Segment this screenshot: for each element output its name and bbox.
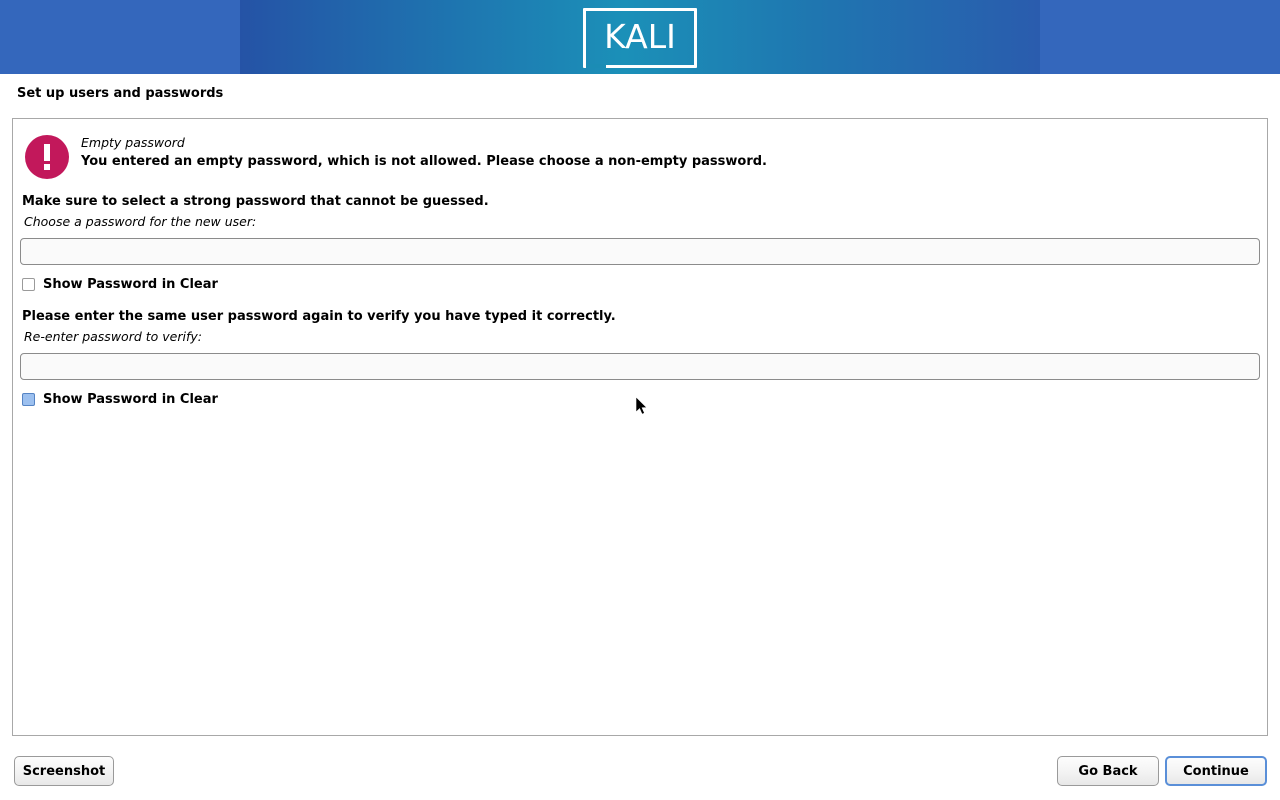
show-password-in-clear-checkbox-1[interactable] bbox=[22, 278, 35, 291]
installer-banner: KALI bbox=[0, 0, 1280, 74]
show-password-in-clear-checkbox-row-1[interactable]: Show Password in Clear bbox=[22, 277, 218, 292]
password-strength-hint: Make sure to select a strong password th… bbox=[22, 194, 489, 209]
password-input[interactable] bbox=[20, 238, 1260, 265]
show-password-in-clear-label-1: Show Password in Clear bbox=[43, 277, 218, 292]
error-exclamation-icon bbox=[25, 135, 69, 179]
continue-button[interactable]: Continue bbox=[1165, 756, 1267, 786]
verify-field-label: Re-enter password to verify: bbox=[24, 329, 202, 344]
go-back-button[interactable]: Go Back bbox=[1057, 756, 1159, 786]
alert-block: Empty password You entered an empty pass… bbox=[13, 127, 1267, 197]
verify-password-input[interactable] bbox=[20, 353, 1260, 380]
verify-password-hint: Please enter the same user password agai… bbox=[22, 309, 616, 324]
alert-title: Empty password bbox=[81, 135, 185, 150]
alert-message: You entered an empty password, which is … bbox=[81, 154, 767, 169]
error-icon-dot bbox=[44, 164, 50, 170]
password-field-label: Choose a password for the new user: bbox=[24, 214, 256, 229]
page-title: Set up users and passwords bbox=[17, 86, 223, 101]
show-password-in-clear-checkbox-2[interactable] bbox=[22, 393, 35, 406]
content-panel: Empty password You entered an empty pass… bbox=[12, 118, 1268, 736]
kali-logo: KALI bbox=[583, 8, 697, 68]
kali-logo-text: KALI bbox=[583, 8, 697, 68]
show-password-in-clear-checkbox-row-2[interactable]: Show Password in Clear bbox=[22, 392, 218, 407]
show-password-in-clear-label-2: Show Password in Clear bbox=[43, 392, 218, 407]
screenshot-button[interactable]: Screenshot bbox=[14, 756, 114, 786]
error-icon-bar bbox=[44, 144, 50, 161]
